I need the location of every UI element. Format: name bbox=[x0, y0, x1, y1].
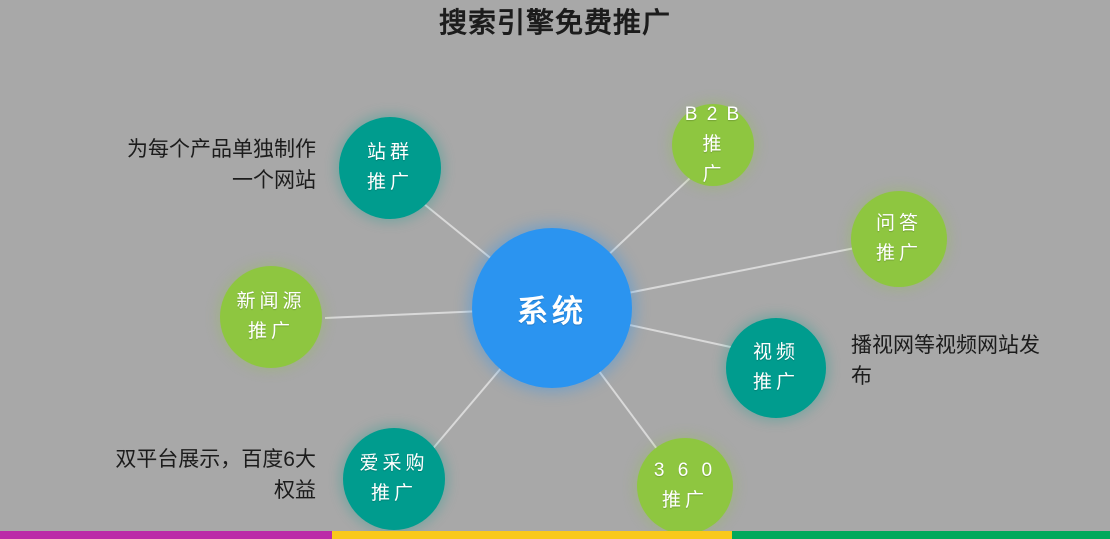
annotation-aicaigou: 双平台展示，百度6大 权益 bbox=[72, 444, 316, 506]
node-360-label: 3 6 0 推广 bbox=[654, 456, 716, 516]
node-xinwenyuan-tuiguang[interactable]: 新闻源 推广 bbox=[220, 266, 322, 368]
strip-segment-yellow bbox=[332, 531, 732, 539]
center-node-system[interactable]: 系统 bbox=[472, 228, 632, 388]
strip-segment-green bbox=[732, 531, 1110, 539]
node-zhanqun-label: 站群 推广 bbox=[367, 138, 413, 198]
annotation-zhanqun: 为每个产品单独制作 一个网站 bbox=[80, 134, 316, 196]
node-b2b-tuiguang[interactable]: B 2 B 推 广 bbox=[672, 104, 754, 186]
node-xinwenyuan-label: 新闻源 推广 bbox=[236, 287, 305, 347]
annotation-shipin: 播视网等视频网站发 布 bbox=[851, 330, 1101, 392]
node-aicaigou-label: 爱采购 推广 bbox=[359, 449, 428, 509]
node-360-tuiguang[interactable]: 3 6 0 推广 bbox=[637, 438, 733, 534]
node-shipin-tuiguang[interactable]: 视频 推广 bbox=[726, 318, 826, 418]
node-aicaigou-tuiguang[interactable]: 爱采购 推广 bbox=[343, 428, 445, 530]
diagram-canvas: 搜索引擎免费推广 系统 站群 推广 B 2 B 推 广 问答 推广 视频 推广 … bbox=[0, 0, 1110, 539]
node-wenda-tuiguang[interactable]: 问答 推广 bbox=[851, 191, 947, 287]
node-shipin-label: 视频 推广 bbox=[753, 338, 799, 398]
node-b2b-label: B 2 B 推 广 bbox=[672, 100, 754, 190]
strip-segment-magenta bbox=[0, 531, 332, 539]
bottom-color-strip bbox=[0, 531, 1110, 539]
center-node-label: 系统 bbox=[517, 286, 587, 331]
node-zhanqun-tuiguang[interactable]: 站群 推广 bbox=[339, 117, 441, 219]
node-wenda-label: 问答 推广 bbox=[876, 209, 922, 269]
